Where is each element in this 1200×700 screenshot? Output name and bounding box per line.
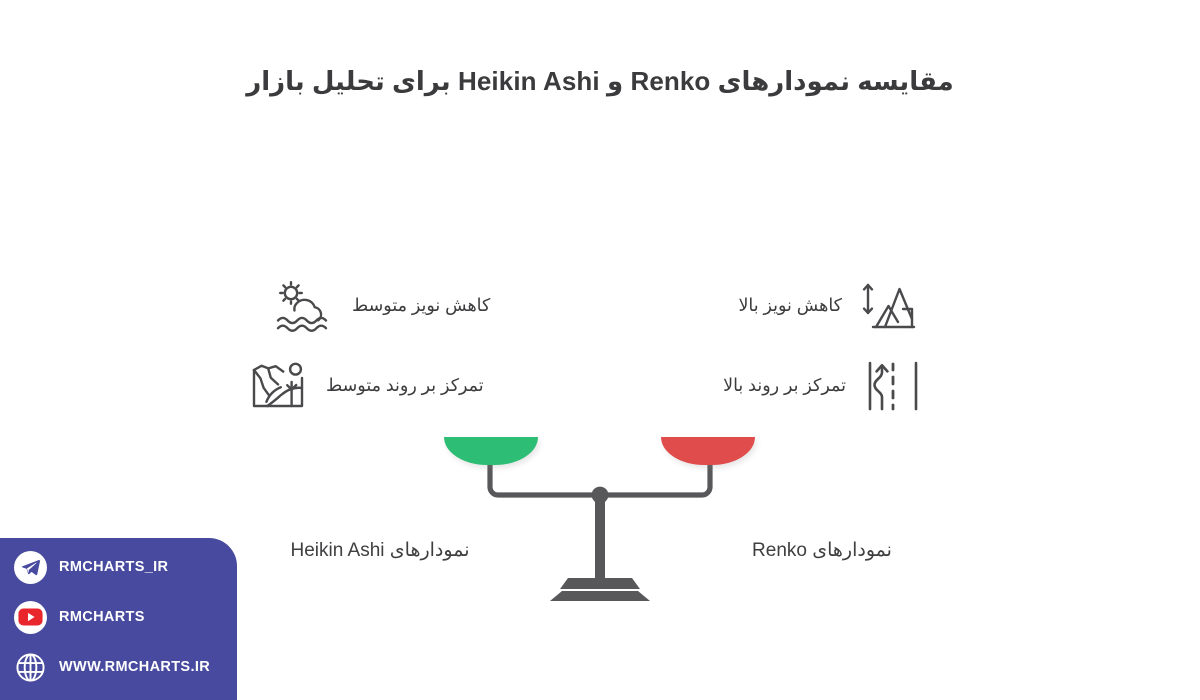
side-label-renko: نمودارهای Renko [724,539,920,562]
telegram-icon [14,551,47,584]
mountain-elevation-icon [856,278,922,334]
branding-label-website: WWW.RMCHARTS.IR [59,659,210,675]
feature-right-noise-label: کاهش نویز بالا [672,295,842,317]
scale-pan-renko [661,437,755,465]
globe-icon [14,651,47,684]
feature-left-noise: کاهش نویز متوسط [272,278,522,334]
feature-right-trend: تمرکز بر روند بالا [666,358,926,414]
landscape-image-icon [246,358,312,414]
page-title: مقایسه نمودارهای Renko و Heikin Ashi برا… [0,66,1200,97]
feature-left-trend: تمرکز بر روند متوسط [246,358,522,414]
road-lane-arrow-icon [860,358,926,414]
branding-item-youtube[interactable]: RMCHARTS [14,600,145,634]
branding-label-youtube: RMCHARTS [59,609,145,625]
branding-label-telegram: RMCHARTS_IR [59,559,168,575]
branding-item-telegram[interactable]: RMCHARTS_IR [14,550,168,584]
youtube-icon [14,601,47,634]
pan-shadow-right [663,440,757,468]
feature-right-noise: کاهش نویز بالا [672,278,922,334]
scale-pan-heikin-ashi [444,437,538,465]
feature-left-trend-label: تمرکز بر روند متوسط [326,375,522,397]
infographic-canvas: مقایسه نمودارهای Renko و Heikin Ashi برا… [0,0,1200,700]
feature-left-noise-label: کاهش نویز متوسط [352,295,522,317]
feature-right-trend-label: تمرکز بر روند بالا [666,375,846,397]
branding-item-website[interactable]: WWW.RMCHARTS.IR [14,650,210,684]
branding-panel: RMCHARTS_IR RMCHARTS WWW.RMCHARTS.IR [0,538,237,700]
sun-cloud-fog-icon [272,278,338,334]
side-label-heikin-ashi: نمودارهای Heikin Ashi [262,539,498,562]
pan-shadow-left [446,440,540,468]
